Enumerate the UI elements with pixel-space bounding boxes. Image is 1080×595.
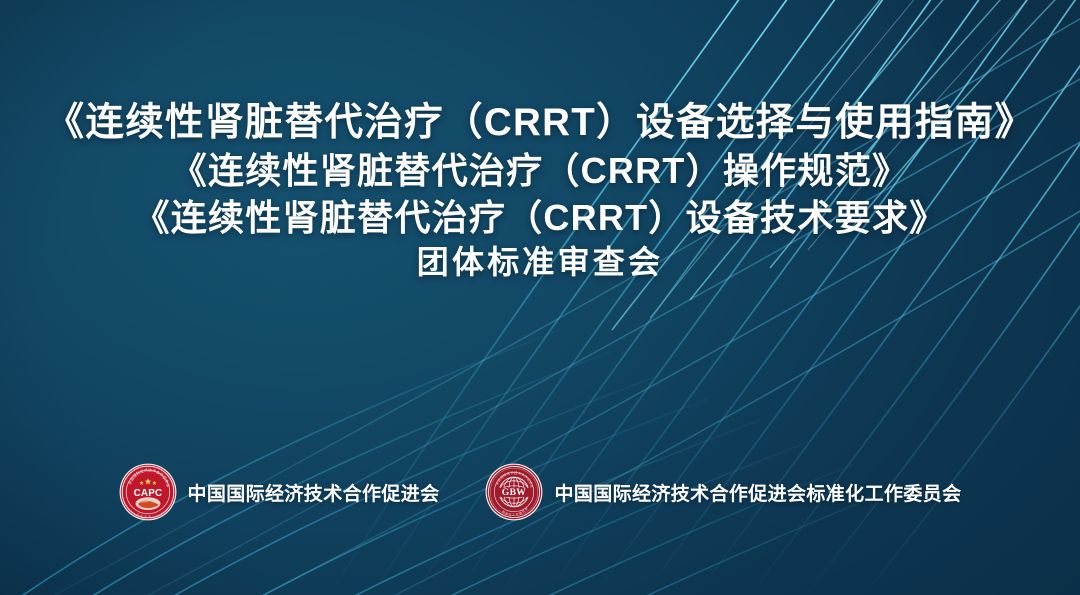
svg-text:工: 工: [512, 513, 515, 517]
title-line-2: 《连续性肾脏替代治疗（CRRT）操作规范》: [0, 148, 1080, 195]
page-title: 《连续性肾脏替代治疗（CRRT）设备选择与使用指南》 《连续性肾脏替代治疗（CR…: [0, 98, 1080, 283]
title-line-4: 团体标准审查会: [0, 242, 1080, 284]
title-line-3: 《连续性肾脏替代治疗（CRRT）设备技术要求》: [0, 195, 1080, 242]
logo-label-gbw: 中国国际经济技术合作促进会标准化工作委员会: [554, 479, 961, 506]
svg-text:GBW: GBW: [502, 487, 527, 498]
svg-text:CAPC: CAPC: [133, 488, 162, 499]
presentation-slide: 《连续性肾脏替代治疗（CRRT）设备选择与使用指南》 《连续性肾脏替代治疗（CR…: [0, 0, 1080, 595]
logo-label-capc: 中国国际经济技术合作促进会: [188, 479, 440, 506]
gbw-globe-emblem-icon: 中 国 国 际 经 济 技 术 合 作 促 进 会: [485, 463, 543, 521]
title-line-1: 《连续性肾脏替代治疗（CRRT）设备选择与使用指南》: [0, 98, 1080, 148]
organization-logo-row: 中 国 国 际 经 济 技 术 合 作 促 进 会: [0, 463, 1080, 521]
logo-unit-gbw: 中 国 国 际 经 济 技 术 合 作 促 进 会: [485, 463, 961, 521]
logo-unit-capc: 中 国 国 际 经 济 技 术 合 作 促 进 会: [119, 463, 440, 521]
capc-globe-stars-emblem-icon: 中 国 国 际 经 济 技 术 合 作 促 进 会: [119, 463, 177, 521]
svg-text:C: C: [148, 514, 150, 518]
